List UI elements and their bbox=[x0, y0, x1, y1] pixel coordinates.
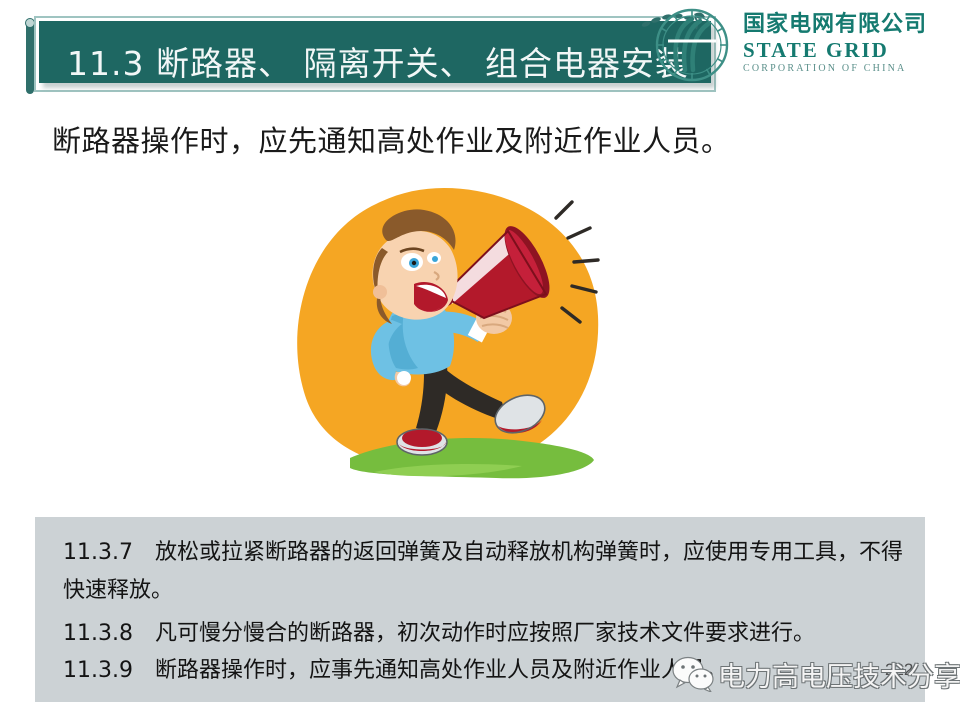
note-item-1138: 11.3.8凡可慢分慢合的断路器，初次动作时应按照厂家技术文件要求进行。 bbox=[63, 615, 913, 653]
page-number: 222 bbox=[885, 660, 913, 680]
slide-canvas: 11.3 断路器、 隔离开关、 组合电器安装 bbox=[0, 0, 960, 720]
megaphone-illustration-svg bbox=[246, 176, 642, 504]
state-grid-logo: 国家电网有限公司 STATE GRID CORPORATION OF CHINA bbox=[655, 6, 955, 90]
head bbox=[373, 209, 458, 324]
title-banner: 11.3 断路器、 隔离开关、 组合电器安装 bbox=[26, 16, 716, 92]
megaphone-illustration bbox=[246, 176, 642, 504]
left-shoe bbox=[397, 429, 447, 455]
note-text-1137: 放松或拉紧断路器的返回弹簧及自动释放机构弹簧时，应使用专用工具，不得快速释放。 bbox=[63, 540, 903, 603]
state-grid-emblem-icon bbox=[655, 8, 729, 82]
banner-fill: 11.3 断路器、 隔离开关、 组合电器安装 bbox=[39, 21, 711, 83]
logo-name-en: STATE GRID bbox=[743, 38, 953, 62]
logo-subtitle: CORPORATION OF CHINA bbox=[743, 62, 953, 75]
note-number-1138: 11.3.8 bbox=[63, 615, 155, 653]
page-title: 11.3 断路器、 隔离开关、 组合电器安装 bbox=[67, 37, 689, 85]
note-item-1137: 11.3.7放松或拉紧断路器的返回弹簧及自动释放机构弹簧时，应使用专用工具，不得… bbox=[63, 534, 903, 610]
lead-sentence: 断路器操作时，应先通知高处作业及附近作业人员。 bbox=[52, 118, 731, 160]
note-text-1138: 凡可慢分慢合的断路器，初次动作时应按照厂家技术文件要求进行。 bbox=[155, 621, 815, 646]
note-number-1139: 11.3.9 bbox=[63, 652, 155, 690]
logo-name-cn: 国家电网有限公司 bbox=[743, 12, 953, 38]
note-text-1139: 断路器操作时，应事先通知高处作业人员及附近作业人员。 bbox=[155, 658, 727, 683]
note-item-1139: 11.3.9断路器操作时，应事先通知高处作业人员及附近作业人员。 bbox=[63, 652, 913, 690]
note-number-1137: 11.3.7 bbox=[63, 534, 155, 572]
state-grid-wordmark: 国家电网有限公司 STATE GRID CORPORATION OF CHINA bbox=[743, 12, 953, 75]
banner-pole-decoration bbox=[26, 22, 34, 94]
regulation-note-box: 11.3.7放松或拉紧断路器的返回弹簧及自动释放机构弹簧时，应使用专用工具，不得… bbox=[35, 517, 925, 702]
